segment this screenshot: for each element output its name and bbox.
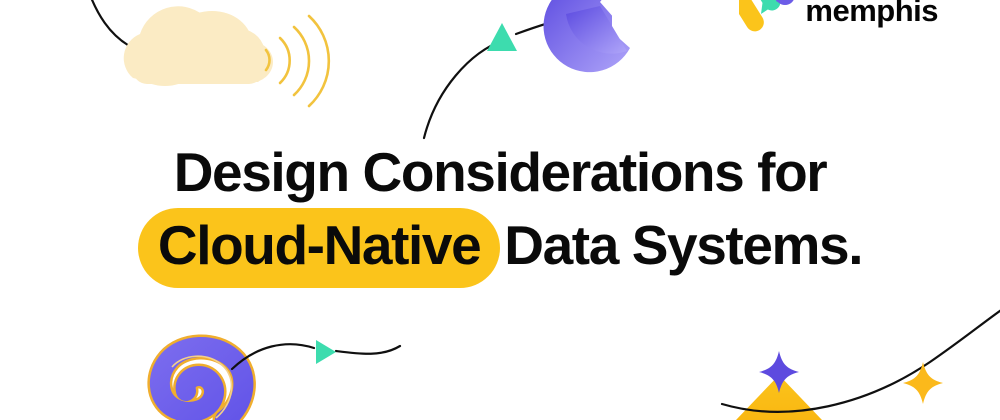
headline-line-2: Cloud-NativeData Systems. bbox=[0, 208, 1000, 288]
yellow-sparkle-star bbox=[903, 362, 943, 404]
headline-line-2-rest: Data Systems. bbox=[504, 214, 862, 276]
signal-waves-icon bbox=[266, 16, 329, 106]
purple-swirl-shape bbox=[160, 347, 244, 420]
purple-pacman-shape bbox=[544, 0, 637, 72]
purple-sparkle-star bbox=[759, 351, 799, 393]
headline-line-1: Design Considerations for bbox=[0, 138, 1000, 208]
brand-name: memphis bbox=[805, 0, 938, 26]
brand-logo[interactable]: memphis bbox=[739, 0, 938, 34]
memphis-logo-mark bbox=[739, 0, 795, 32]
page-title: Design Considerations for Cloud-NativeDa… bbox=[0, 138, 1000, 288]
teal-triangle-right bbox=[316, 340, 336, 364]
curve-line-bottom-left-b bbox=[336, 346, 400, 354]
headline-highlight: Cloud-Native bbox=[138, 208, 500, 288]
cloud-shape bbox=[124, 6, 273, 86]
curve-line-top-center bbox=[424, 40, 504, 138]
article-cover-banner: memphis Design Considerations for Cloud-… bbox=[0, 0, 1000, 420]
curve-line-top-left bbox=[86, 0, 133, 48]
teal-triangle-up bbox=[487, 23, 517, 51]
